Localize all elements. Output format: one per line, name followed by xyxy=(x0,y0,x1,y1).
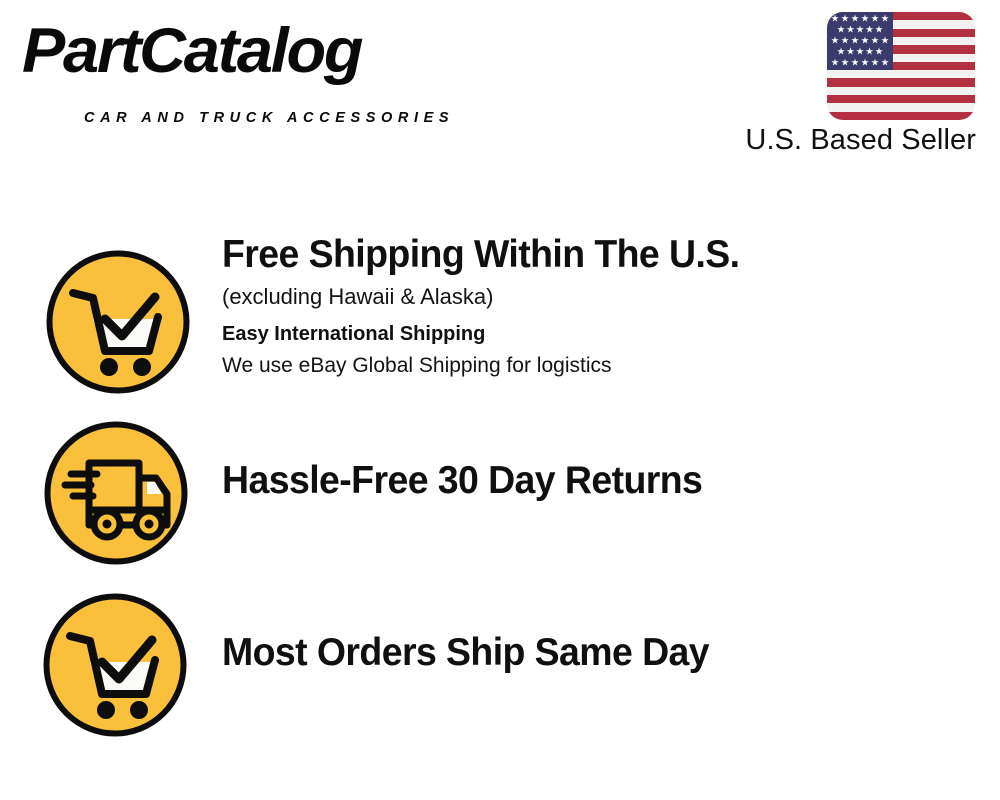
feature-heading: Most Orders Ship Same Day xyxy=(222,628,952,678)
flag-star: ★ xyxy=(831,58,840,68)
flag-stripe xyxy=(827,112,975,120)
flag-star: ★ xyxy=(831,14,840,24)
flag-star: ★ xyxy=(871,36,880,46)
flag-star: ★ xyxy=(856,47,865,57)
banner-header: PartCatalog CAR AND TRUCK ACCESSORIES ★★… xyxy=(0,0,1000,170)
flag-star: ★ xyxy=(831,36,840,46)
flag-star: ★ xyxy=(846,47,855,57)
flag-star: ★ xyxy=(846,25,855,35)
feature-heading: Free Shipping Within The U.S. xyxy=(222,230,952,280)
flag-star: ★ xyxy=(871,58,880,68)
flag-star: ★ xyxy=(861,58,870,68)
feature-row: Most Orders Ship Same Day xyxy=(0,573,1000,748)
flag-star: ★ xyxy=(841,14,850,24)
flag-star: ★ xyxy=(837,25,846,35)
feature-list: Free Shipping Within The U.S. (excluding… xyxy=(0,230,1000,760)
flag-canton: ★★★★★★★★★★★★★★★★★★★★★★★★★★★★ xyxy=(827,12,893,70)
flag-star: ★ xyxy=(851,14,860,24)
flag-star: ★ xyxy=(875,25,884,35)
us-flag-icon: ★★★★★★★★★★★★★★★★★★★★★★★★★★★★ xyxy=(827,12,975,120)
brand-tagline: CAR AND TRUCK ACCESSORIES xyxy=(84,110,454,126)
feature-row: Free Shipping Within The U.S. (excluding… xyxy=(0,230,1000,410)
shopping-cart-check-icon xyxy=(42,592,188,738)
flag-star: ★ xyxy=(881,14,890,24)
feature-sub-title: Easy International Shipping xyxy=(222,318,982,350)
flag-star: ★ xyxy=(861,36,870,46)
feature-note: (excluding Hawaii & Alaska) xyxy=(222,280,982,314)
feature-sub-desc: We use eBay Global Shipping for logistic… xyxy=(222,350,982,382)
partcatalog-logo[interactable]: PartCatalog CAR AND TRUCK ACCESSORIES xyxy=(22,20,502,120)
feature-text: Free Shipping Within The U.S. (excluding… xyxy=(222,230,982,382)
feature-text: Hassle-Free 30 Day Returns xyxy=(222,456,982,506)
feature-row: Hassle-Free 30 Day Returns xyxy=(0,402,1000,574)
flag-star: ★ xyxy=(865,47,874,57)
shopping-cart-check-icon xyxy=(45,249,191,395)
flag-star: ★ xyxy=(875,47,884,57)
delivery-truck-icon xyxy=(43,420,189,566)
flag-star: ★ xyxy=(861,14,870,24)
flag-star: ★ xyxy=(841,36,850,46)
flag-star: ★ xyxy=(851,58,860,68)
flag-star: ★ xyxy=(881,58,890,68)
flag-star: ★ xyxy=(881,36,890,46)
brand-wordmark: PartCatalog xyxy=(22,20,361,83)
flag-star: ★ xyxy=(851,36,860,46)
feature-text: Most Orders Ship Same Day xyxy=(222,628,982,678)
feature-heading: Hassle-Free 30 Day Returns xyxy=(222,456,952,506)
seller-label: U.S. Based Seller xyxy=(745,124,976,157)
flag-star: ★ xyxy=(856,25,865,35)
seller-badge: ★★★★★★★★★★★★★★★★★★★★★★★★★★★★ U.S. Based … xyxy=(708,8,988,158)
flag-star: ★ xyxy=(837,47,846,57)
flag-star: ★ xyxy=(865,25,874,35)
flag-star: ★ xyxy=(871,14,880,24)
flag-star: ★ xyxy=(841,58,850,68)
